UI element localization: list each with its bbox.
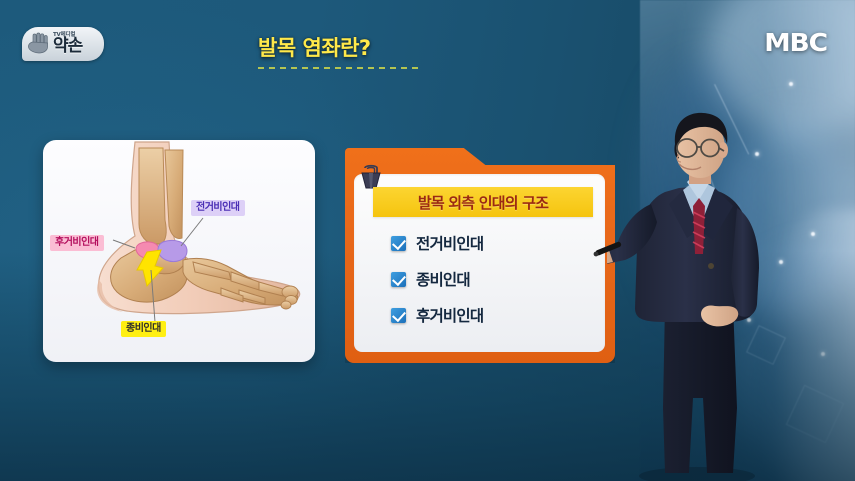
hand-icon bbox=[26, 31, 52, 57]
headline-underline bbox=[258, 67, 423, 69]
ligament-list: 전거비인대 종비인대 후거비인대 bbox=[391, 232, 601, 340]
anatomy-label-calcaneofibular: 종비인대 bbox=[121, 321, 166, 337]
ankle-illustration bbox=[43, 140, 315, 362]
program-logo: TV메디컬 약손 bbox=[22, 27, 104, 61]
list-item-label: 전거비인대 bbox=[416, 232, 483, 254]
network-logo: MBC bbox=[764, 28, 827, 57]
program-logo-name: 약손 bbox=[53, 38, 82, 55]
pointer-pen-icon bbox=[591, 236, 625, 262]
checkbox-checked-icon[interactable] bbox=[391, 308, 406, 323]
list-item[interactable]: 종비인대 bbox=[391, 268, 601, 290]
ligament-card-title: 발목 외측 인대의 구조 bbox=[418, 192, 548, 213]
ligament-card-title-bar: 발목 외측 인대의 구조 bbox=[373, 187, 593, 217]
presenter bbox=[607, 108, 797, 481]
checkbox-checked-icon[interactable] bbox=[391, 272, 406, 287]
anatomy-label-anterior: 전거비인대 bbox=[191, 200, 245, 216]
anatomy-label-posterior: 후거비인대 bbox=[50, 235, 104, 251]
list-item[interactable]: 전거비인대 bbox=[391, 232, 601, 254]
headline: 발목 염좌란? bbox=[258, 32, 508, 69]
anatomy-card: 후거비인대 전거비인대 종비인대 bbox=[43, 140, 315, 362]
page-title: 발목 염좌란? bbox=[258, 32, 508, 62]
checkbox-checked-icon[interactable] bbox=[391, 236, 406, 251]
ligament-structure-card: 발목 외측 인대의 구조 전거비인대 종비인대 후거비인대 bbox=[345, 148, 615, 363]
list-item[interactable]: 후거비인대 bbox=[391, 304, 601, 326]
list-item-label: 종비인대 bbox=[416, 268, 470, 290]
list-item-label: 후거비인대 bbox=[416, 304, 483, 326]
